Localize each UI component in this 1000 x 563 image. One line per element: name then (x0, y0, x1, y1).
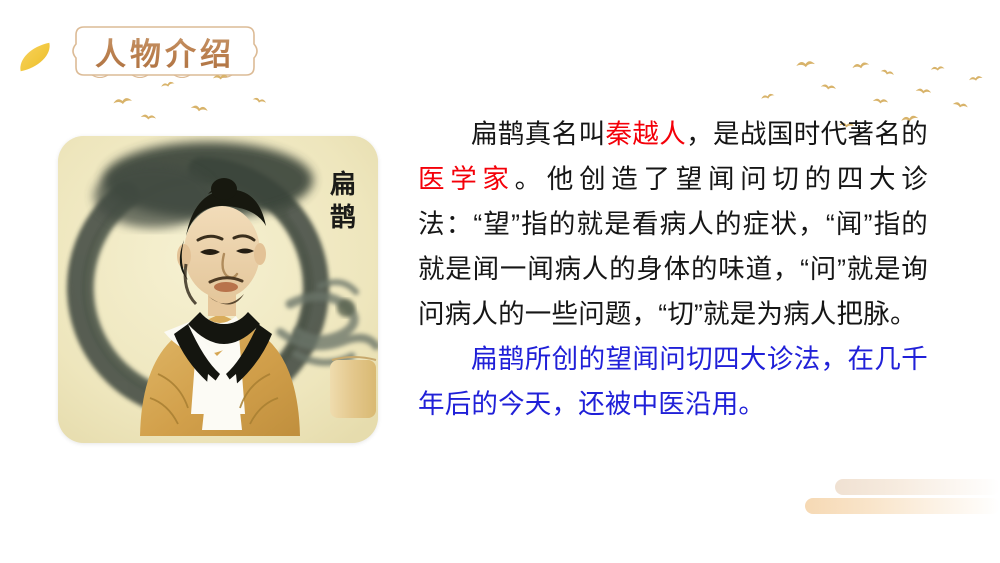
portrait-caption: 扁 鹊 (326, 168, 360, 234)
paragraph-1-run-3: ，是战国时代著名的 (686, 119, 928, 149)
bird-icon (850, 58, 871, 72)
paragraph-1-run-1: 扁鹊真名叫 (471, 119, 605, 149)
bird-icon (111, 94, 133, 108)
title-frame: 人物介绍 (70, 24, 260, 78)
deco-bar-top (835, 479, 1000, 495)
bird-icon (759, 90, 776, 102)
bird-icon (930, 63, 946, 72)
decorative-bars (790, 467, 1000, 527)
deco-bar-bottom (805, 498, 1000, 514)
bird-icon (951, 98, 970, 110)
paragraph-1-run-2: 秦越人 (605, 119, 686, 149)
body-text-block: 扁鹊真名叫秦越人，是战国时代著名的医学家。他创造了望闻问切的四大诊法：“望”指的… (418, 112, 928, 427)
paragraph-1: 扁鹊真名叫秦越人，是战国时代著名的医学家。他创造了望闻问切的四大诊法：“望”指的… (418, 112, 928, 337)
bird-icon (189, 101, 209, 114)
page-title: 人物介绍 (70, 24, 260, 78)
bird-icon (794, 57, 816, 70)
paragraph-2-run-1: 扁鹊所创的望闻问切四大诊法，在几千年后的今天，还被中医沿用。 (418, 344, 928, 419)
portrait-caption-char-1: 扁 (326, 168, 360, 201)
bird-icon (872, 95, 890, 105)
bian-que-portrait-image: 扁 鹊 (58, 136, 378, 443)
bird-icon (140, 111, 158, 122)
paragraph-2: 扁鹊所创的望闻问切四大诊法，在几千年后的今天，还被中医沿用。 (418, 337, 928, 427)
bird-icon (967, 73, 983, 84)
bird-icon (251, 94, 268, 105)
leaf-icon (16, 43, 54, 72)
slide-title-block: 人物介绍 (18, 24, 318, 86)
paragraph-1-run-4: 医学家 (418, 164, 515, 194)
bird-icon (819, 81, 837, 93)
slide-root: 人物介绍 (0, 0, 1000, 563)
portrait-caption-char-2: 鹊 (326, 201, 360, 234)
bird-icon (915, 85, 933, 96)
bird-icon (879, 66, 896, 78)
